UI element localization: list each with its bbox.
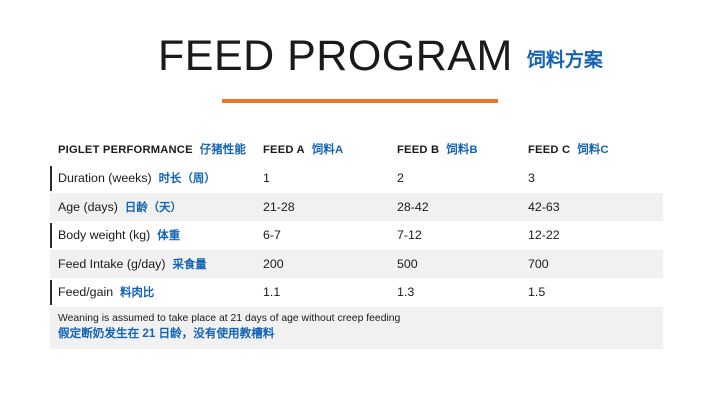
- header-feed-c-cn: 饲料C: [577, 144, 609, 156]
- cell-feed-intake-feed-a: 200: [263, 250, 284, 279]
- table-header-row: PIGLET PERFORMANCE仔猪性能 FEED A饲料A FEED B饲…: [50, 136, 663, 164]
- row-label-duration: Duration (weeks)时长（周）: [58, 164, 216, 193]
- cell-age-feed-a: 21-28: [263, 193, 295, 222]
- row-label-feed-gain-en: Feed/gain: [58, 285, 113, 299]
- cell-age-feed-c: 42-63: [528, 193, 560, 222]
- cell-feed-gain-feed-b: 1.3: [397, 278, 414, 307]
- table-row: Duration (weeks)时长（周） 1 2 3: [50, 164, 663, 193]
- page-title: FEED PROGRAM: [158, 32, 513, 80]
- cell-feed-intake-feed-b: 500: [397, 250, 418, 279]
- header-cell-feed-a: FEED A饲料A: [263, 136, 343, 164]
- row-label-duration-cn: 时长（周）: [159, 173, 216, 185]
- header-performance-en: PIGLET PERFORMANCE: [58, 144, 193, 156]
- title-underline-rule: [222, 99, 498, 103]
- cell-body-weight-feed-b: 7-12: [397, 221, 422, 250]
- row-label-feed-intake-cn: 采食量: [172, 259, 206, 271]
- cell-body-weight-feed-a: 6-7: [263, 221, 281, 250]
- header-cell-feed-b: FEED B饲料B: [397, 136, 478, 164]
- header-cell-feed-c: FEED C饲料C: [528, 136, 609, 164]
- title-line: FEED PROGRAM饲料方案: [158, 30, 588, 82]
- header-feed-c-en: FEED C: [528, 144, 570, 156]
- table-row: Feed Intake (g/day)采食量 200 500 700: [50, 250, 663, 279]
- title-block: FEED PROGRAM饲料方案: [0, 30, 720, 108]
- footnote-english: Weaning is assumed to take place at 21 d…: [58, 311, 663, 326]
- cell-duration-feed-b: 2: [397, 164, 404, 193]
- row-label-body-weight-cn: 体重: [157, 230, 180, 242]
- cell-duration-feed-a: 1: [263, 164, 270, 193]
- cell-feed-gain-feed-a: 1.1: [263, 278, 280, 307]
- row-label-feed-intake-en: Feed Intake (g/day): [58, 257, 165, 271]
- feed-program-table: PIGLET PERFORMANCE仔猪性能 FEED A饲料A FEED B饲…: [50, 136, 663, 349]
- cell-feed-gain-feed-c: 1.5: [528, 278, 545, 307]
- row-label-feed-gain-cn: 料肉比: [120, 287, 154, 299]
- row-label-feed-intake: Feed Intake (g/day)采食量: [58, 250, 207, 279]
- page-title-chinese: 饲料方案: [527, 50, 603, 71]
- row-label-age-en: Age (days): [58, 200, 118, 214]
- cell-age-feed-b: 28-42: [397, 193, 429, 222]
- table-row: Feed/gain料肉比 1.1 1.3 1.5: [50, 278, 663, 307]
- footnote-chinese: 假定断奶发生在 21 日龄，没有使用教槽料: [58, 326, 663, 342]
- row-label-duration-en: Duration (weeks): [58, 171, 152, 185]
- header-cell-performance: PIGLET PERFORMANCE仔猪性能: [58, 136, 246, 164]
- cell-duration-feed-c: 3: [528, 164, 535, 193]
- cell-feed-intake-feed-c: 700: [528, 250, 549, 279]
- header-performance-cn: 仔猪性能: [200, 144, 246, 156]
- header-feed-a-en: FEED A: [263, 144, 305, 156]
- row-label-body-weight-en: Body weight (kg): [58, 228, 150, 242]
- header-feed-b-en: FEED B: [397, 144, 439, 156]
- header-feed-a-cn: 饲料A: [312, 144, 344, 156]
- cell-body-weight-feed-c: 12-22: [528, 221, 560, 250]
- row-label-body-weight: Body weight (kg)体重: [58, 221, 180, 250]
- row-label-age-cn: 日龄（天）: [125, 202, 182, 214]
- table-row: Age (days)日龄（天） 21-28 28-42 42-63: [50, 193, 663, 222]
- table-footnote-row: Weaning is assumed to take place at 21 d…: [50, 307, 663, 349]
- row-label-feed-gain: Feed/gain料肉比: [58, 278, 154, 307]
- table-row: Body weight (kg)体重 6-7 7-12 12-22: [50, 221, 663, 250]
- header-feed-b-cn: 饲料B: [446, 144, 478, 156]
- row-label-age: Age (days)日龄（天）: [58, 193, 182, 222]
